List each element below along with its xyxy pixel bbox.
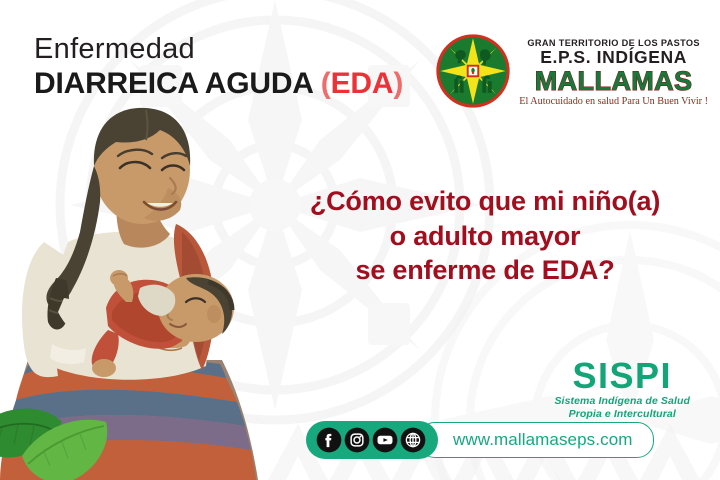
mallamas-line-eps: E.P.S. INDÍGENA xyxy=(519,48,708,68)
instagram-icon[interactable] xyxy=(344,427,370,453)
poster-root: Enfermedad DIARREICA AGUDA (EDA) xyxy=(0,0,720,480)
main-question: ¿Cómo evito que mi niño(a) o adulto mayo… xyxy=(262,184,708,288)
page-title: Enfermedad DIARREICA AGUDA (EDA) xyxy=(34,34,403,101)
mother-breastfeeding-baby-illustration xyxy=(0,92,300,480)
footer-bar: www.mallamaseps.com xyxy=(306,421,654,459)
title-line-1: Enfermedad xyxy=(34,34,403,65)
mallamas-wordmark: GRAN TERRITORIO DE LOS PASTOS E.P.S. IND… xyxy=(519,32,708,107)
facebook-icon[interactable] xyxy=(316,427,342,453)
title-line-2: DIARREICA AGUDA (EDA) xyxy=(34,68,403,100)
sispi-wordmark: SISPI xyxy=(554,358,690,394)
website-globe-icon[interactable] xyxy=(400,427,426,453)
mallamas-logo[interactable]: GRAN TERRITORIO DE LOS PASTOS E.P.S. IND… xyxy=(434,32,708,110)
title-disease-name: DIARREICA AGUDA xyxy=(34,67,321,100)
mallamas-line-brand: MALLAMAS xyxy=(519,68,708,95)
mallamas-sun-emblem-icon xyxy=(434,32,512,110)
title-paren-open: ( xyxy=(321,67,331,100)
social-links-group xyxy=(306,421,438,459)
website-url-text: www.mallamaseps.com xyxy=(453,430,633,450)
website-url-button[interactable]: www.mallamaseps.com xyxy=(418,422,654,458)
question-line-2: o adulto mayor xyxy=(262,219,708,254)
question-line-3: se enferme de EDA? xyxy=(262,253,708,288)
title-acronym: EDA xyxy=(331,67,394,100)
sispi-logo: SISPI Sistema Indígena de Salud Propia e… xyxy=(554,358,690,421)
title-paren-close: ) xyxy=(393,67,403,100)
question-line-1: ¿Cómo evito que mi niño(a) xyxy=(262,184,708,219)
sispi-tagline-line-2: Propia e Intercultural xyxy=(554,408,690,421)
mallamas-tagline: El Autocuidado en salud Para Un Buen Viv… xyxy=(519,96,708,107)
youtube-icon[interactable] xyxy=(372,427,398,453)
sispi-tagline-line-1: Sistema Indígena de Salud xyxy=(554,395,690,408)
sispi-tagline: Sistema Indígena de Salud Propia e Inter… xyxy=(554,395,690,421)
